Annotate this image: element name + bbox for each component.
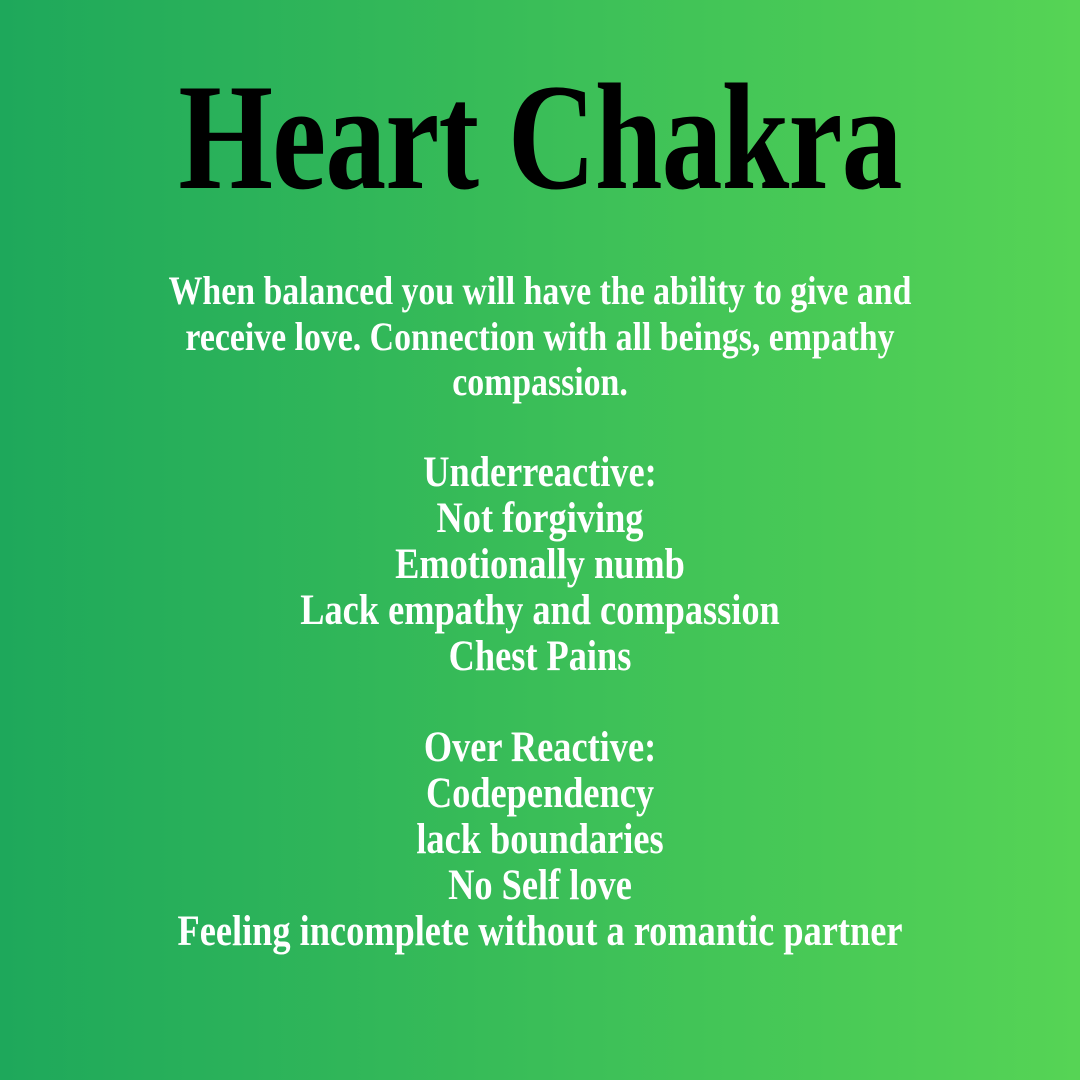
underreactive-heading: Underreactive: (84, 450, 997, 496)
underreactive-section: Underreactive: Not forgiving Emotionally… (0, 450, 1080, 680)
body-content: When balanced you will have the ability … (0, 268, 1080, 955)
list-item: Lack empathy and compassion (84, 588, 997, 634)
overreactive-section: Over Reactive: Codependency lack boundar… (0, 725, 1080, 955)
list-item: No Self love (84, 863, 997, 909)
intro-paragraph: When balanced you will have the ability … (0, 268, 1080, 405)
section-gap-1 (0, 405, 1080, 450)
intro-line-1: When balanced you will have the ability … (84, 268, 997, 314)
list-item: Feeling incomplete without a romantic pa… (84, 909, 997, 955)
list-item: Chest Pains (84, 634, 997, 680)
overreactive-heading: Over Reactive: (84, 725, 997, 771)
intro-line-3: compassion. (84, 359, 997, 405)
list-item: Emotionally numb (84, 542, 997, 588)
intro-line-2: receive love. Connection with all beings… (84, 314, 997, 360)
section-gap-2 (0, 680, 1080, 725)
list-item: lack boundaries (84, 817, 997, 863)
list-item: Codependency (84, 771, 997, 817)
poster-canvas: Heart Chakra When balanced you will have… (0, 0, 1080, 1080)
page-title: Heart Chakra (178, 62, 901, 212)
list-item: Not forgiving (84, 496, 997, 542)
title-block: Heart Chakra (0, 62, 1080, 212)
